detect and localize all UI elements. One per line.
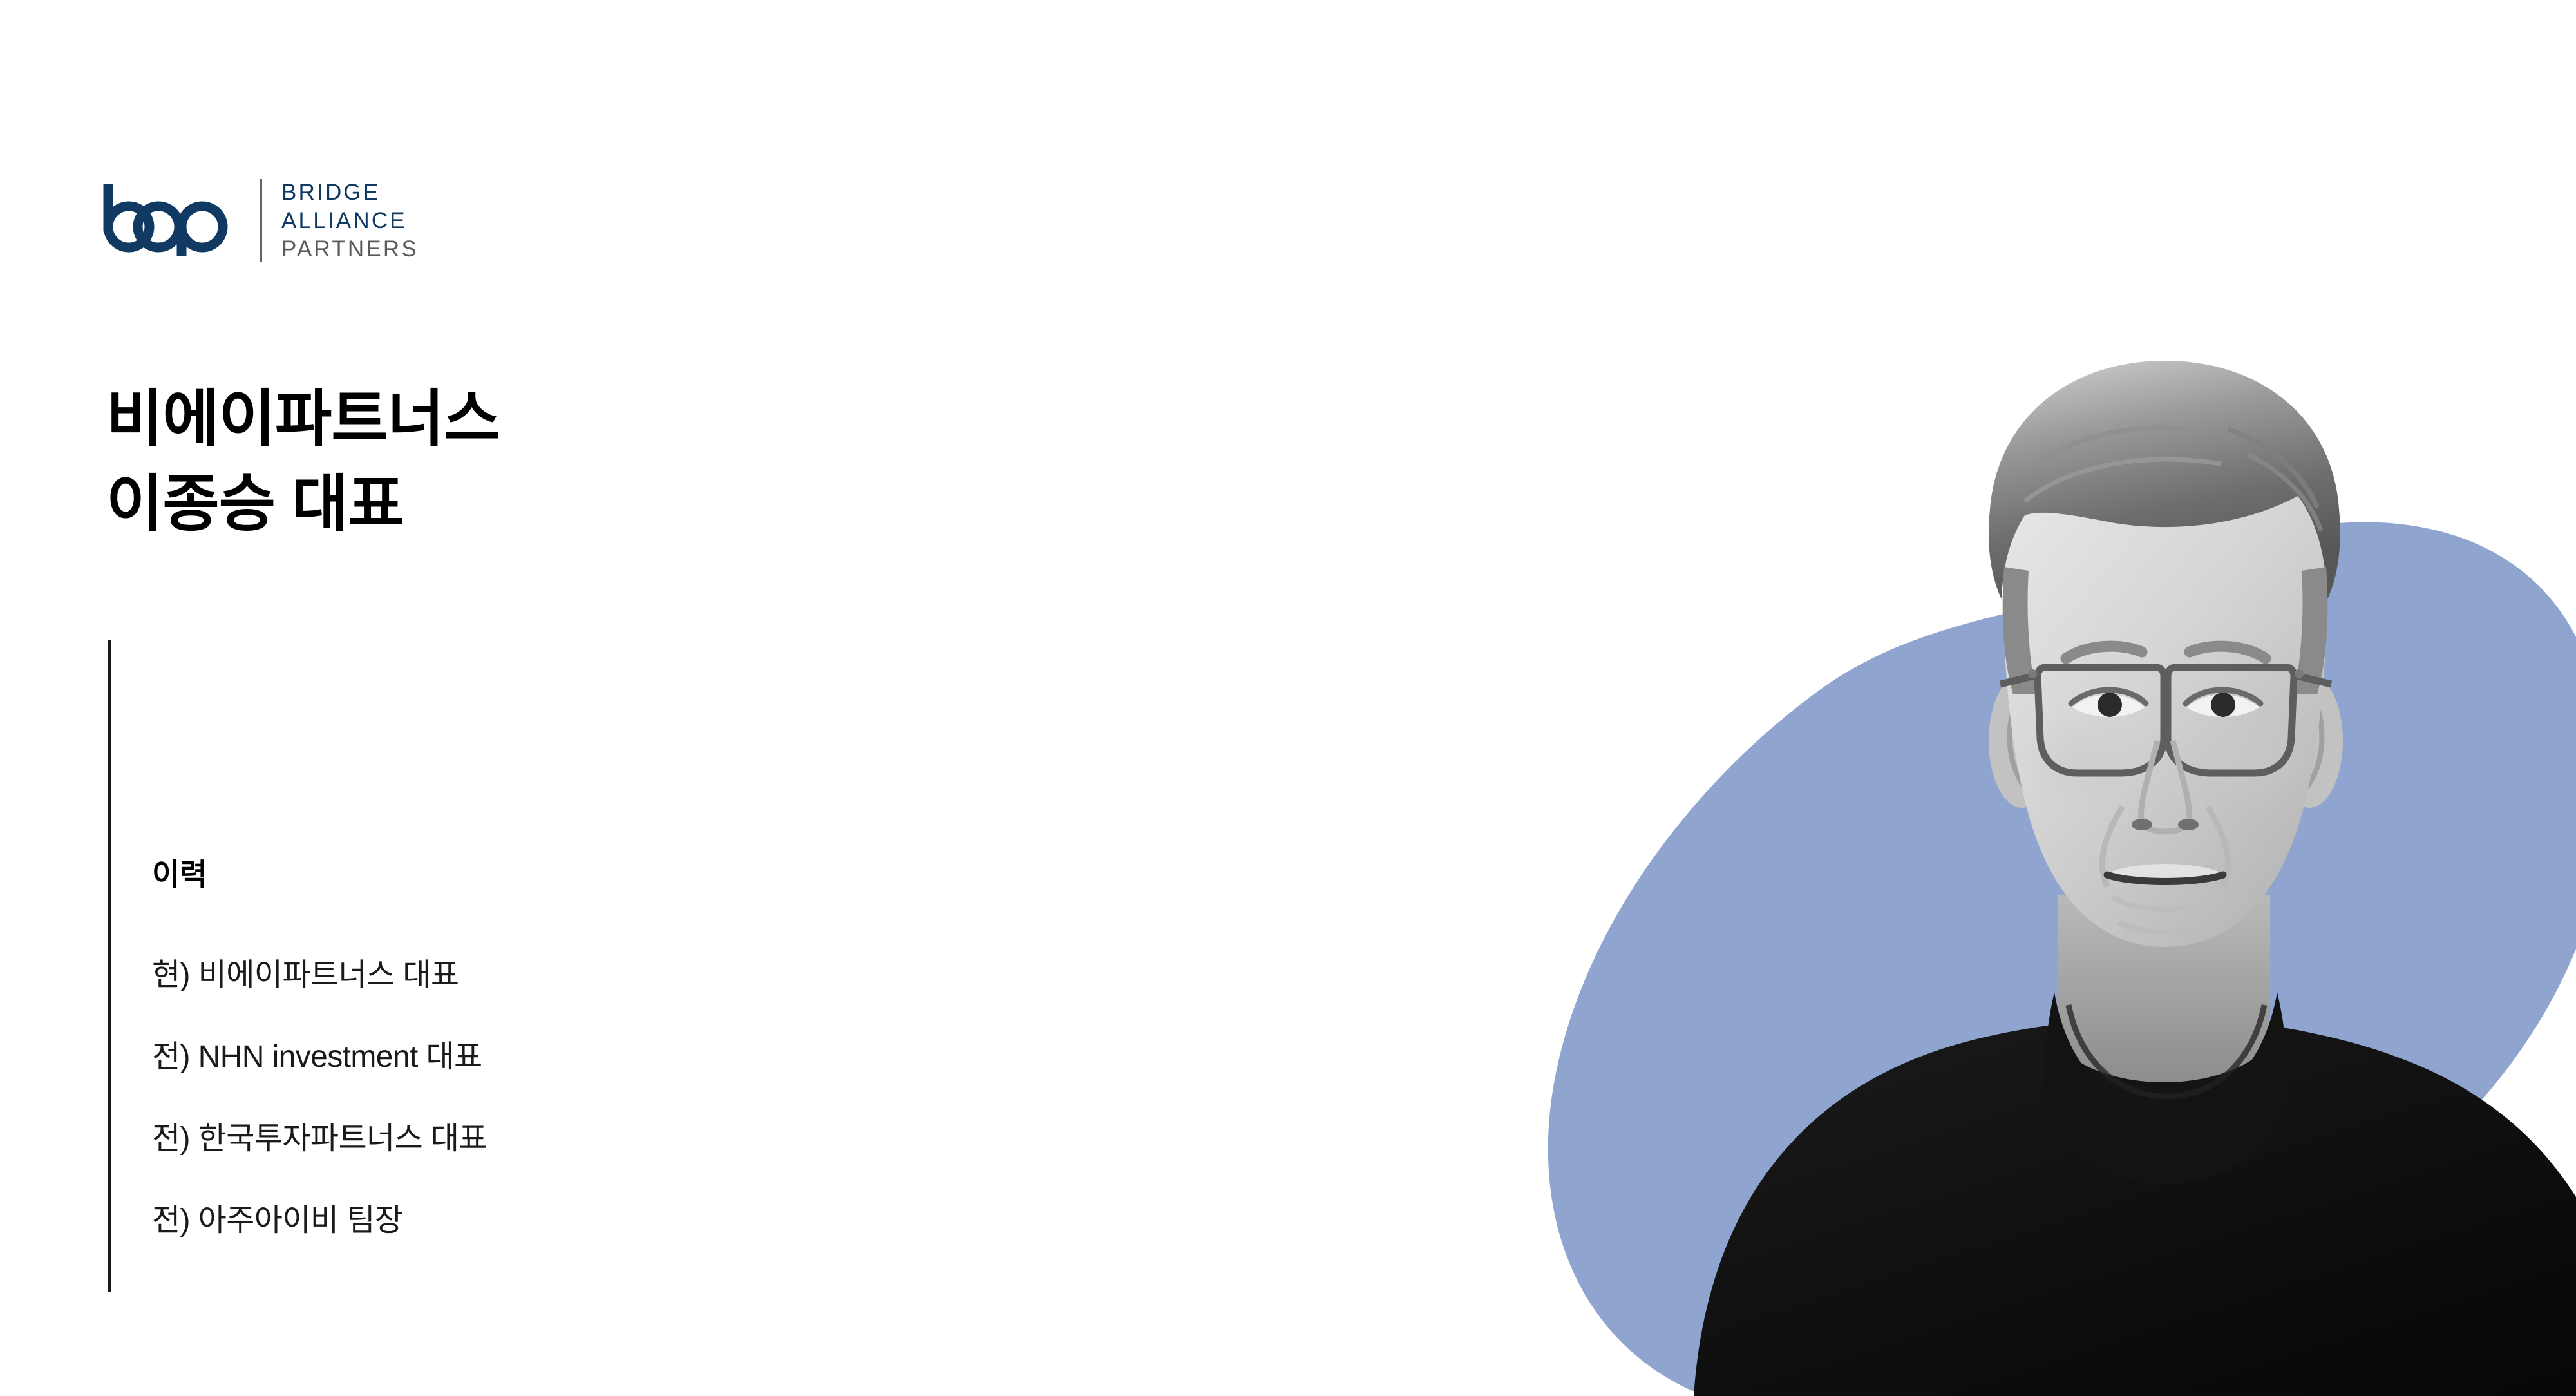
bap-logomark-icon bbox=[103, 184, 242, 256]
career-item: 전) 한국투자파트너스 대표 bbox=[152, 1123, 957, 1154]
career-item: 전) NHN investment 대표 bbox=[152, 1042, 957, 1073]
portrait-artwork bbox=[902, 0, 2576, 1396]
page-title: 비에이파트너스 이종승 대표 bbox=[106, 377, 943, 548]
career-item: 전) 아주아이비 팀장 bbox=[152, 1205, 957, 1236]
logo-word-alliance: ALLIANCE bbox=[281, 209, 419, 232]
section-vertical-divider bbox=[108, 640, 111, 1292]
career-heading: 이력 bbox=[152, 857, 957, 893]
slide-root: BRIDGE ALLIANCE PARTNERS 비에이파트너스 이종승 대표 … bbox=[0, 0, 2576, 1396]
logo-divider bbox=[260, 179, 262, 262]
career-item: 현) 비에이파트너스 대표 bbox=[152, 960, 957, 991]
title-person: 이종승 대표 bbox=[106, 462, 943, 547]
logo-word-partners: PARTNERS bbox=[281, 238, 419, 260]
title-company: 비에이파트너스 bbox=[106, 377, 943, 462]
career-section: 이력 현) 비에이파트너스 대표 전) NHN investment 대표 전)… bbox=[152, 857, 957, 1236]
brand-logo: BRIDGE ALLIANCE PARTNERS bbox=[103, 175, 419, 265]
logo-word-bridge: BRIDGE bbox=[281, 181, 419, 204]
logo-wordmark: BRIDGE ALLIANCE PARTNERS bbox=[281, 181, 419, 260]
career-list: 현) 비에이파트너스 대표 전) NHN investment 대표 전) 한국… bbox=[152, 960, 957, 1236]
